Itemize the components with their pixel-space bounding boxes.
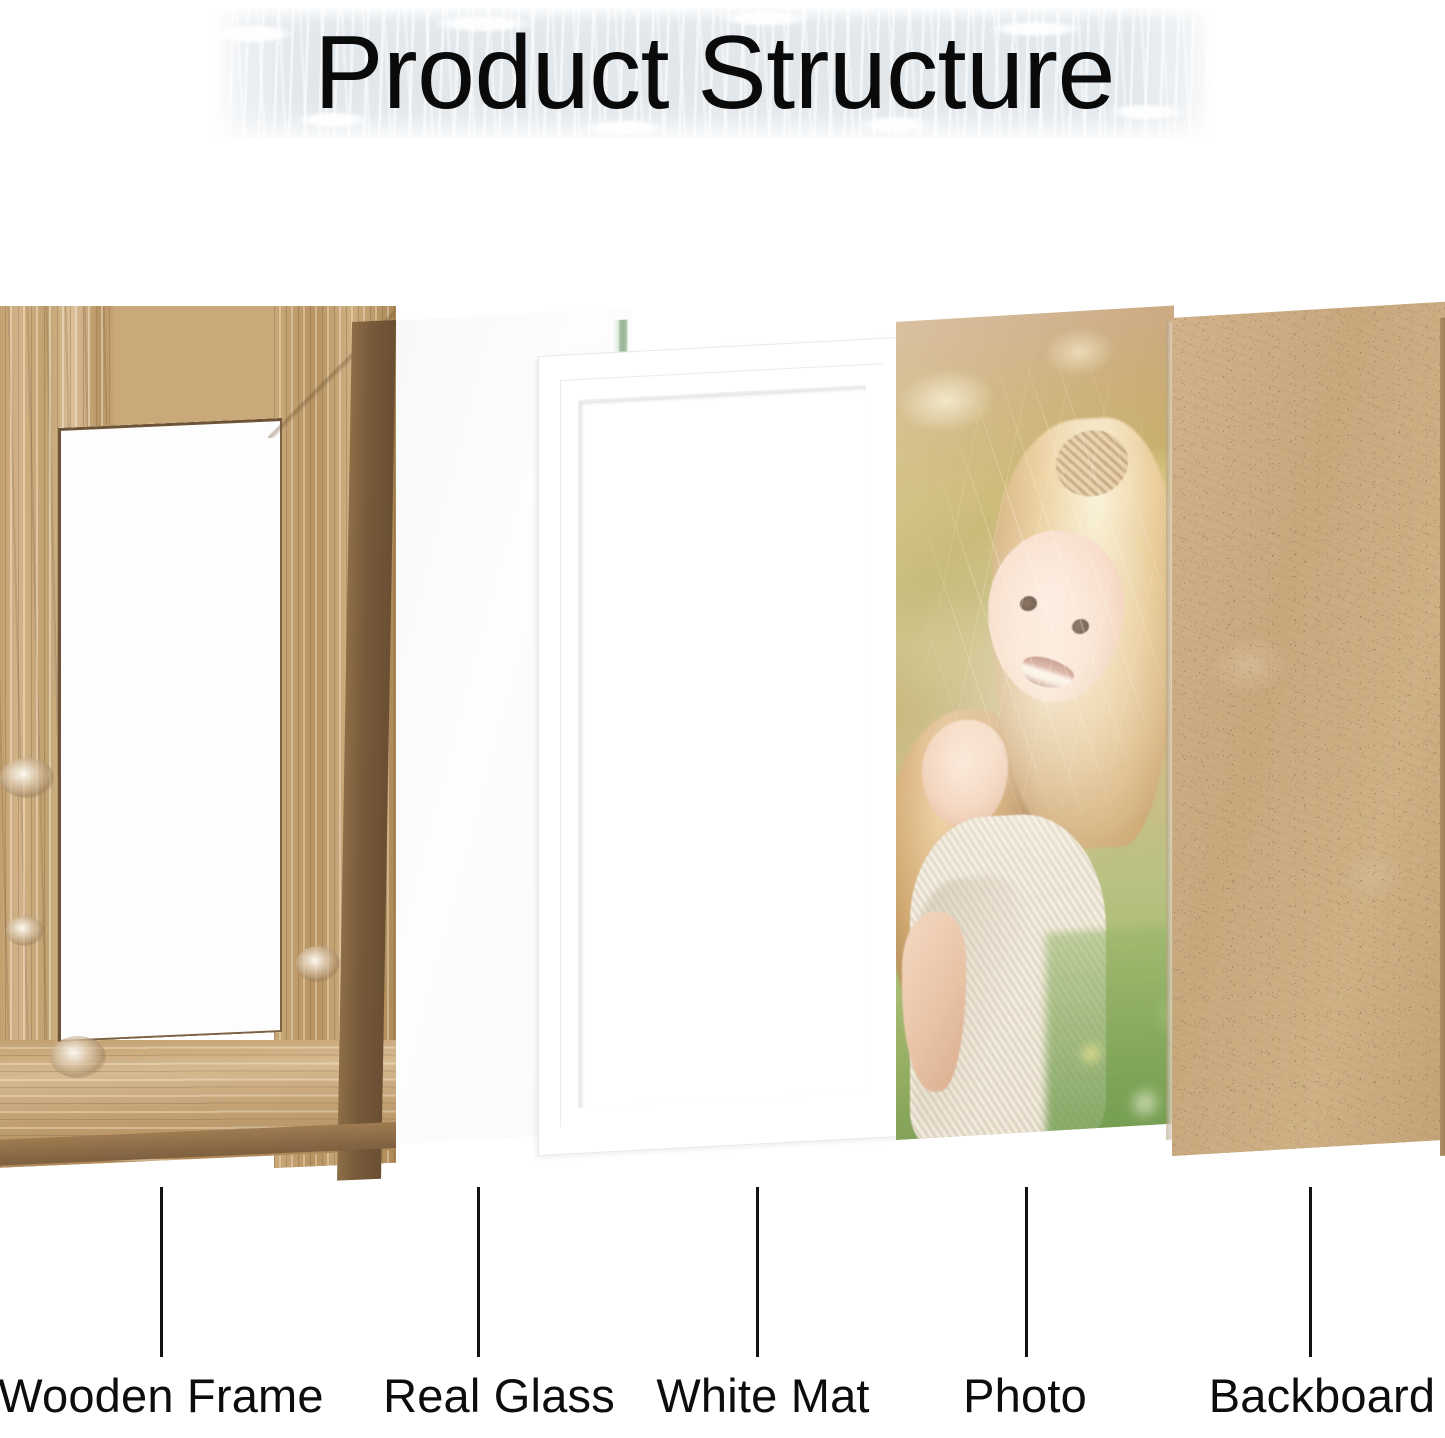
label-white-mat: White Mat bbox=[656, 1372, 869, 1419]
backboard-fiberboard-face bbox=[1172, 301, 1445, 1156]
photo-sunlight-wash bbox=[896, 305, 1174, 1140]
photo-print bbox=[896, 305, 1174, 1140]
layer-white-mat bbox=[538, 356, 908, 1156]
wood-knot-icon bbox=[296, 946, 340, 982]
layer-backboard bbox=[1172, 318, 1445, 1156]
label-backboard: Backboard bbox=[1209, 1372, 1436, 1419]
layer-photo bbox=[896, 322, 1174, 1140]
leader-line-backboard bbox=[1309, 1187, 1312, 1357]
frame-window-opening bbox=[58, 418, 282, 1042]
backboard-right-edge bbox=[1440, 317, 1445, 1156]
mat-window-opening bbox=[578, 385, 866, 1108]
leader-line-real-glass bbox=[477, 1187, 480, 1357]
leader-line-photo bbox=[1025, 1187, 1028, 1357]
wood-knot-icon bbox=[6, 916, 44, 946]
exploded-view-diagram: Wooden Frame Real Glass White Mat Photo … bbox=[0, 0, 1445, 1438]
label-wooden-frame: Wooden Frame bbox=[0, 1372, 324, 1419]
leader-line-white-mat bbox=[756, 1187, 759, 1357]
label-photo: Photo bbox=[963, 1372, 1087, 1419]
label-real-glass: Real Glass bbox=[383, 1372, 615, 1419]
wood-knot-icon bbox=[0, 758, 54, 798]
leader-line-wooden-frame bbox=[160, 1187, 163, 1357]
wood-knot-icon bbox=[50, 1036, 106, 1078]
